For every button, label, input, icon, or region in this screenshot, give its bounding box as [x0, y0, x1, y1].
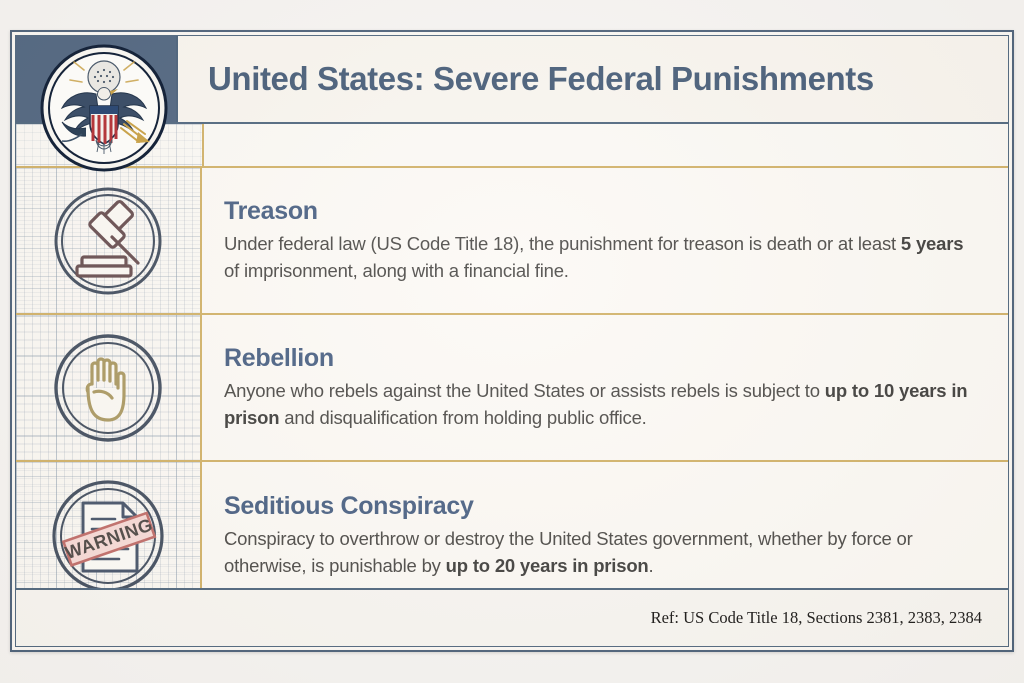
footer-reference: Ref: US Code Title 18, Sections 2381, 23… [651, 608, 982, 628]
body-part-plain: Anyone who rebels against the United Sta… [224, 380, 825, 401]
section-heading-treason: Treason [224, 197, 972, 226]
section-row-rebellion[interactable]: Rebellion Anyone who rebels against the … [16, 315, 1008, 462]
seal-block [16, 36, 178, 122]
body-part-plain: Under federal law (US Code Title 18), th… [224, 233, 901, 254]
body-part-bold: up to 20 years in prison [446, 555, 649, 576]
body-part-plain: of imprisonment, along with a financial … [224, 260, 569, 281]
section-body-seditious-conspiracy: Conspiracy to overthrow or destroy the U… [224, 526, 972, 579]
icon-cell-treason [16, 168, 202, 313]
section-row-seditious-conspiracy[interactable]: WARNING Seditious Conspiracy Conspiracy … [16, 462, 1008, 609]
header: United States: Severe Federal Punishment… [16, 36, 1008, 124]
body-part-bold: 5 years [901, 233, 963, 254]
icon-cell-seditious-conspiracy: WARNING [16, 462, 202, 609]
body-part-plain: and disqualification from holding public… [279, 407, 646, 428]
raised-fist-icon [52, 332, 164, 444]
text-cell-seditious-conspiracy: Seditious Conspiracy Conspiracy to overt… [202, 462, 1008, 609]
section-heading-seditious-conspiracy: Seditious Conspiracy [224, 492, 972, 521]
section-row-treason[interactable]: Treason Under federal law (US Code Title… [16, 168, 1008, 315]
page-title: United States: Severe Federal Punishment… [208, 60, 874, 98]
subband-vertical-divider [202, 124, 204, 166]
sections-list: Treason Under federal law (US Code Title… [16, 168, 1008, 609]
great-seal-icon [38, 42, 170, 174]
text-cell-rebellion: Rebellion Anyone who rebels against the … [202, 315, 1008, 460]
warning-document-icon: WARNING [49, 477, 167, 595]
infographic-canvas: United States: Severe Federal Punishment… [15, 35, 1009, 647]
icon-cell-rebellion [16, 315, 202, 460]
section-body-treason: Under federal law (US Code Title 18), th… [224, 231, 972, 284]
gavel-icon [52, 185, 164, 297]
section-heading-rebellion: Rebellion [224, 344, 972, 373]
infographic-frame: United States: Severe Federal Punishment… [10, 30, 1014, 652]
title-bar: United States: Severe Federal Punishment… [178, 36, 1008, 122]
footer: Ref: US Code Title 18, Sections 2381, 23… [16, 588, 1008, 646]
text-cell-treason: Treason Under federal law (US Code Title… [202, 168, 1008, 313]
body-part-plain: . [649, 555, 654, 576]
infographic-page: United States: Severe Federal Punishment… [0, 0, 1024, 683]
section-body-rebellion: Anyone who rebels against the United Sta… [224, 378, 972, 431]
